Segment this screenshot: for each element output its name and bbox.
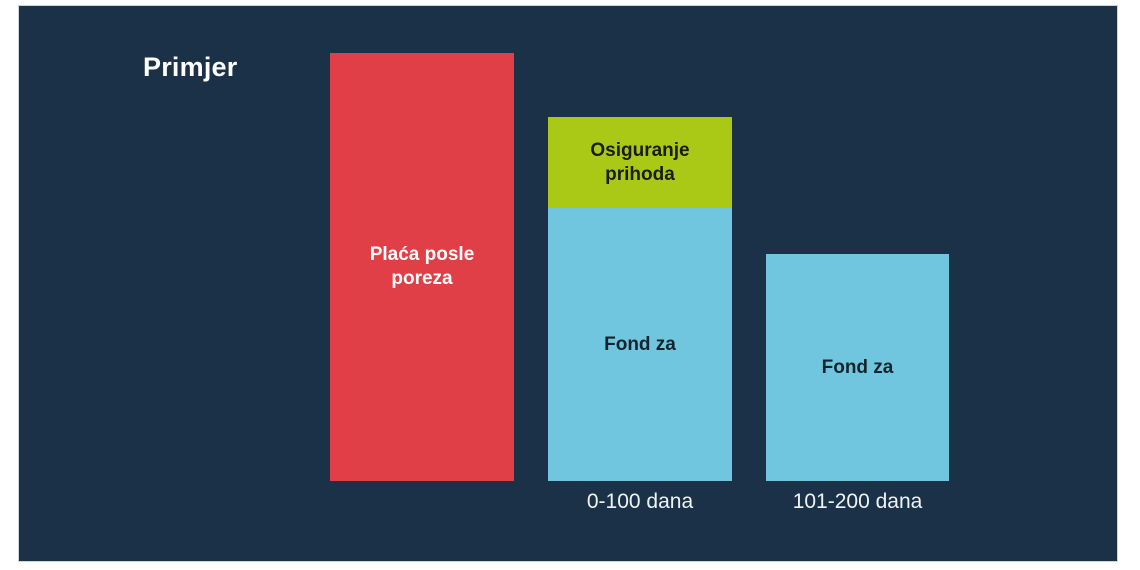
plot-area: Plaća posle porezaOsiguranje prihodaFond… (19, 6, 1117, 561)
bar-segment-label: Fond za (598, 333, 682, 357)
chart-panel: Primjer Plaća posle porezaOsiguranje pri… (18, 5, 1118, 562)
bar-segment: Osiguranje prihoda (548, 117, 732, 208)
category-label: 101-200 dana (746, 490, 969, 514)
bar-segment: Fond za (548, 208, 732, 481)
bar-segment-label: Fond za (816, 356, 900, 380)
bar-segment-label: Plaća posle poreza (364, 243, 481, 291)
bar-segment: Fond za (766, 254, 949, 481)
bar-segment: Plaća posle poreza (330, 53, 514, 481)
category-label: 0-100 dana (528, 490, 752, 514)
bar-segment-label: Osiguranje prihoda (584, 139, 695, 187)
